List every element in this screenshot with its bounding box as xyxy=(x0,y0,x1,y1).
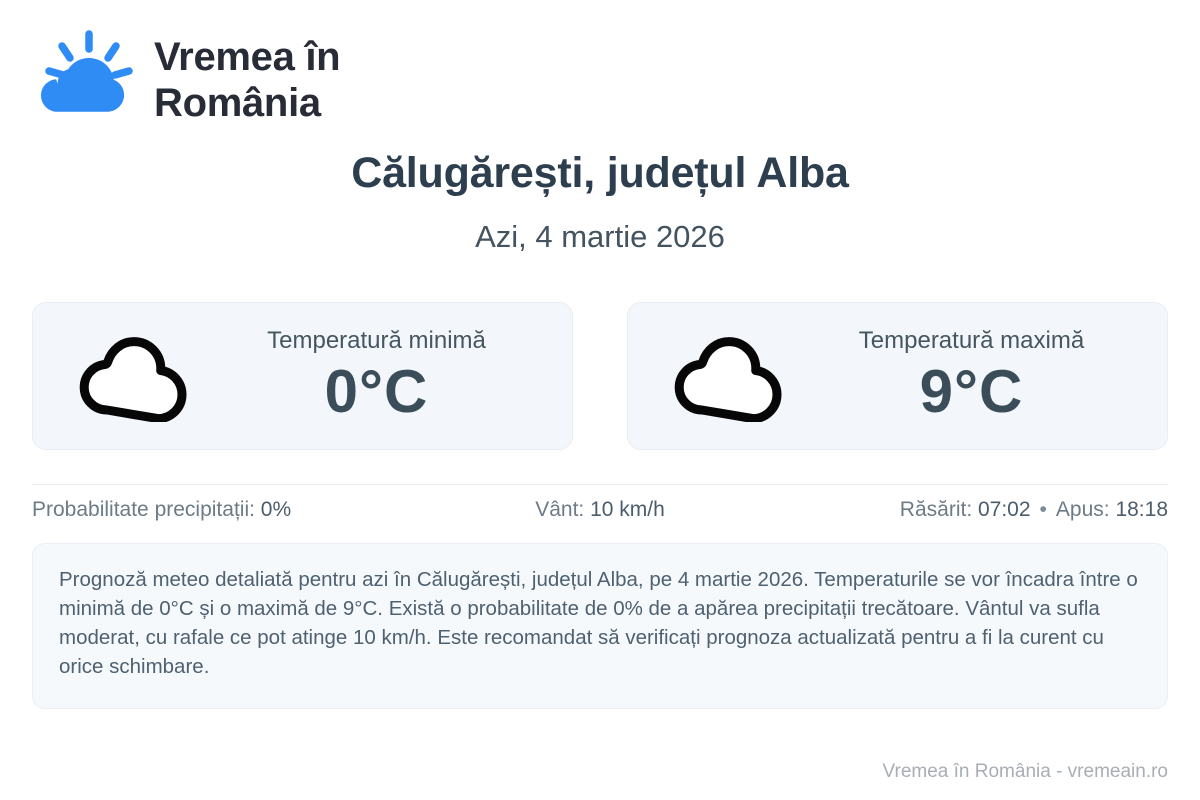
cloud-icon xyxy=(71,330,193,422)
brand-name: Vremea în România xyxy=(154,34,340,127)
sun-times-stat: Răsărit: 07:02•Apus: 18:18 xyxy=(789,498,1168,522)
forecast-description: Prognoză meteo detaliată pentru azi în C… xyxy=(32,543,1168,709)
max-temperature-label: Temperatură maximă xyxy=(806,328,1137,354)
title-block: Călugărești, județul Alba Azi, 4 martie … xyxy=(32,150,1168,255)
sunrise-value: 07:02 xyxy=(978,498,1031,521)
sunset-label: Apus: xyxy=(1056,498,1116,521)
wind-value: 10 km/h xyxy=(590,498,665,521)
temperature-cards: Temperatură minimă 0°C Temperatură maxim… xyxy=(32,302,1168,450)
max-temperature-body: Temperatură maximă 9°C xyxy=(806,328,1153,426)
min-temperature-body: Temperatură minimă 0°C xyxy=(211,328,558,426)
sun-behind-cloud-icon xyxy=(32,30,136,130)
page-title: Călugărești, județul Alba xyxy=(32,150,1168,197)
min-temperature-card: Temperatură minimă 0°C xyxy=(32,302,573,450)
max-temperature-card: Temperatură maximă 9°C xyxy=(627,302,1168,450)
precipitation-label: Probabilitate precipitații: xyxy=(32,498,261,521)
stats-row: Probabilitate precipitații: 0% Vânt: 10 … xyxy=(32,485,1168,535)
sunset-value: 18:18 xyxy=(1115,498,1168,521)
weather-page: Vremea în România Călugărești, județul A… xyxy=(0,0,1200,800)
site-brand[interactable]: Vremea în România xyxy=(32,0,1168,112)
precipitation-stat: Probabilitate precipitații: 0% xyxy=(32,498,411,522)
wind-stat: Vânt: 10 km/h xyxy=(411,498,790,522)
min-temperature-label: Temperatură minimă xyxy=(211,328,542,354)
cloud-icon xyxy=(666,330,788,422)
sunrise-label: Răsărit: xyxy=(900,498,978,521)
min-temperature-value: 0°C xyxy=(211,358,542,425)
bullet-separator-icon: • xyxy=(1031,498,1056,521)
page-subtitle: Azi, 4 martie 2026 xyxy=(32,219,1168,255)
wind-label: Vânt: xyxy=(535,498,590,521)
footer-credit: Vremea în România - vremeain.ro xyxy=(883,761,1168,783)
max-temperature-value: 9°C xyxy=(806,358,1137,425)
precipitation-value: 0% xyxy=(261,498,291,521)
